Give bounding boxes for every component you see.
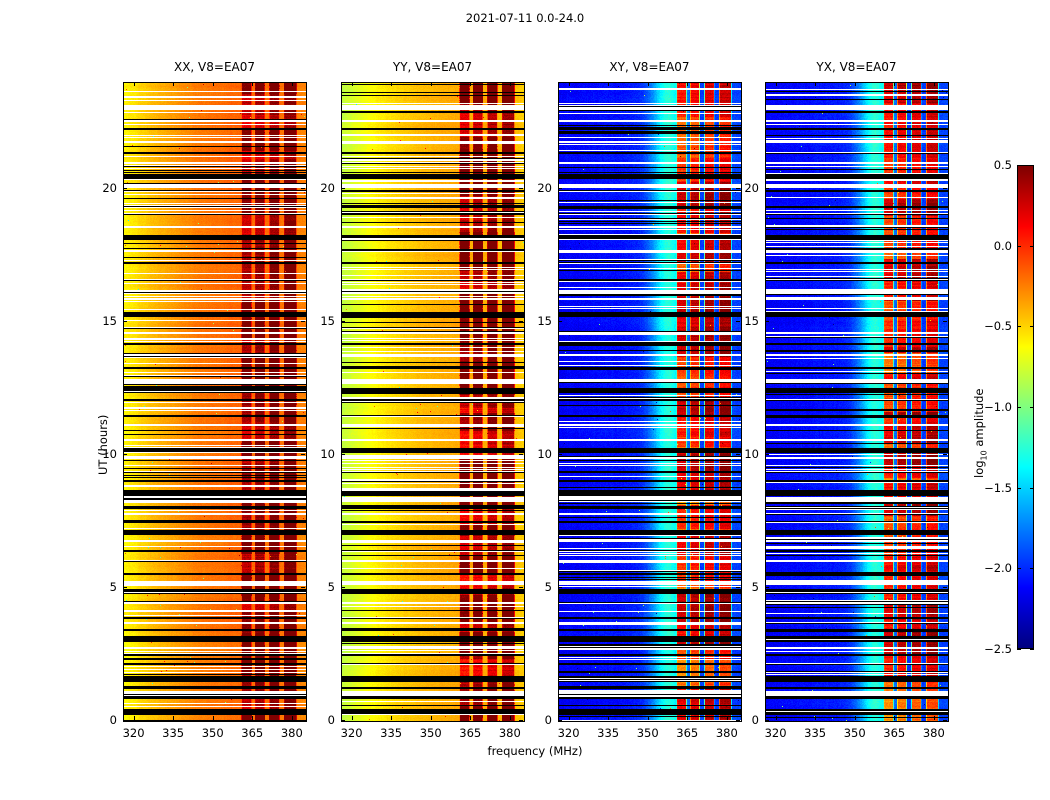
x-tick-top-320 — [352, 82, 353, 86]
y-tick-0 — [765, 720, 769, 721]
x-tick-top-380 — [727, 82, 728, 86]
colorbar-tick-left — [1017, 246, 1021, 247]
x-tick-top-365 — [252, 82, 253, 86]
y-tick-20 — [558, 188, 562, 189]
panel-title-xx: XX, V8=EA07 — [123, 60, 306, 74]
panel-title-yy: YY, V8=EA07 — [341, 60, 524, 74]
x-tick-top-335 — [815, 82, 816, 86]
heatmap-panel-xy[interactable] — [558, 82, 742, 722]
y-tick-label: 10 — [526, 447, 552, 461]
colorbar-tick-label: −1.5 — [978, 481, 1012, 495]
colorbar-tick-label: −2.0 — [978, 561, 1012, 575]
figure-suptitle: 2021-07-11 0.0-24.0 — [0, 11, 1050, 25]
y-tick-5 — [123, 587, 127, 588]
y-axis-label: UT (hours) — [96, 415, 110, 475]
x-axis-label: frequency (MHz) — [385, 744, 685, 758]
panel-title-xy: XY, V8=EA07 — [558, 60, 741, 74]
y-tick-label: 0 — [309, 713, 335, 727]
figure-canvas: 2021-07-11 0.0-24.0 XX, V8=EA07 YY, V8=E… — [0, 0, 1050, 800]
x-tick-top-335 — [608, 82, 609, 86]
y-tick-right-0 — [519, 720, 523, 721]
x-tick-350 — [855, 716, 856, 720]
y-tick-0 — [123, 720, 127, 721]
x-tick-label: 365 — [448, 726, 492, 740]
x-tick-label: 350 — [409, 726, 453, 740]
x-tick-380 — [727, 716, 728, 720]
y-tick-15 — [123, 321, 127, 322]
colorbar-tick-label: 0.5 — [978, 158, 1012, 172]
colorbar-tick-left — [1017, 649, 1021, 650]
y-tick-label: 10 — [733, 447, 759, 461]
colorbar-tick-label: −2.5 — [978, 642, 1012, 656]
y-tick-10 — [341, 454, 345, 455]
x-tick-label: 335 — [369, 726, 413, 740]
x-tick-label: 350 — [626, 726, 670, 740]
x-tick-label: 380 — [488, 726, 532, 740]
y-tick-label: 10 — [309, 447, 335, 461]
y-tick-label: 5 — [309, 580, 335, 594]
panel-title-yx: YX, V8=EA07 — [765, 60, 948, 74]
x-tick-label: 320 — [754, 726, 798, 740]
x-tick-label: 365 — [872, 726, 916, 740]
x-tick-380 — [510, 716, 511, 720]
x-tick-label: 320 — [330, 726, 374, 740]
x-tick-label: 365 — [230, 726, 274, 740]
x-tick-top-350 — [648, 82, 649, 86]
y-tick-right-20 — [301, 188, 305, 189]
y-tick-right-5 — [301, 587, 305, 588]
x-tick-335 — [391, 716, 392, 720]
y-tick-label: 20 — [309, 181, 335, 195]
colorbar-tick-left — [1017, 488, 1021, 489]
colorbar-tick-label: −0.5 — [978, 319, 1012, 333]
x-tick-top-320 — [569, 82, 570, 86]
heatmap-panel-yx[interactable] — [765, 82, 949, 722]
y-tick-20 — [123, 188, 127, 189]
y-tick-right-20 — [943, 188, 947, 189]
colorbar-tick-left — [1017, 326, 1021, 327]
x-tick-320 — [569, 716, 570, 720]
colorbar-tick — [1030, 246, 1034, 247]
heatmap-panel-xx[interactable] — [123, 82, 307, 722]
x-tick-335 — [173, 716, 174, 720]
x-tick-350 — [431, 716, 432, 720]
y-tick-10 — [765, 454, 769, 455]
x-tick-365 — [470, 716, 471, 720]
x-tick-top-335 — [173, 82, 174, 86]
x-tick-380 — [934, 716, 935, 720]
x-tick-320 — [134, 716, 135, 720]
colorbar-tick — [1030, 165, 1034, 166]
x-tick-label: 380 — [705, 726, 749, 740]
x-tick-label: 335 — [793, 726, 837, 740]
x-tick-350 — [648, 716, 649, 720]
colorbar-label-subscript: 10 — [979, 450, 988, 460]
y-tick-10 — [123, 454, 127, 455]
y-tick-label: 0 — [526, 713, 552, 727]
x-tick-top-380 — [510, 82, 511, 86]
y-tick-label: 5 — [733, 580, 759, 594]
x-tick-top-350 — [213, 82, 214, 86]
heatmap-panel-yy[interactable] — [341, 82, 525, 722]
y-tick-15 — [558, 321, 562, 322]
y-tick-label: 20 — [526, 181, 552, 195]
x-tick-320 — [776, 716, 777, 720]
x-tick-365 — [687, 716, 688, 720]
y-tick-15 — [765, 321, 769, 322]
x-tick-320 — [352, 716, 353, 720]
x-tick-top-380 — [934, 82, 935, 86]
x-tick-label: 335 — [586, 726, 630, 740]
x-tick-335 — [815, 716, 816, 720]
y-tick-10 — [558, 454, 562, 455]
y-tick-5 — [558, 587, 562, 588]
y-tick-label: 5 — [526, 580, 552, 594]
x-tick-380 — [292, 716, 293, 720]
y-tick-label: 20 — [91, 181, 117, 195]
y-tick-label: 20 — [733, 181, 759, 195]
y-tick-right-5 — [943, 587, 947, 588]
x-tick-top-335 — [391, 82, 392, 86]
x-tick-label: 380 — [912, 726, 956, 740]
x-tick-label: 335 — [151, 726, 195, 740]
x-tick-label: 320 — [547, 726, 591, 740]
colorbar-label: log10 amplitude — [972, 389, 988, 479]
x-tick-top-320 — [776, 82, 777, 86]
y-tick-label: 15 — [91, 314, 117, 328]
colorbar-tick — [1030, 407, 1034, 408]
y-tick-label: 15 — [526, 314, 552, 328]
y-tick-0 — [341, 720, 345, 721]
y-tick-15 — [341, 321, 345, 322]
y-tick-right-0 — [301, 720, 305, 721]
y-tick-5 — [341, 587, 345, 588]
x-tick-top-350 — [855, 82, 856, 86]
colorbar-tick-label: 0.0 — [978, 239, 1012, 253]
x-tick-top-365 — [894, 82, 895, 86]
colorbar-tick — [1030, 568, 1034, 569]
colorbar-tick-left — [1017, 165, 1021, 166]
x-tick-label: 350 — [833, 726, 877, 740]
y-tick-5 — [765, 587, 769, 588]
x-tick-label: 350 — [191, 726, 235, 740]
x-tick-350 — [213, 716, 214, 720]
x-tick-top-320 — [134, 82, 135, 86]
y-tick-label: 15 — [309, 314, 335, 328]
y-tick-20 — [341, 188, 345, 189]
colorbar-tick-left — [1017, 407, 1021, 408]
y-tick-right-0 — [943, 720, 947, 721]
y-tick-right-15 — [519, 321, 523, 322]
x-tick-label: 380 — [270, 726, 314, 740]
colorbar-tick-left — [1017, 568, 1021, 569]
x-tick-label: 320 — [112, 726, 156, 740]
y-tick-right-20 — [519, 188, 523, 189]
colorbar-tick — [1030, 326, 1034, 327]
y-tick-label: 15 — [733, 314, 759, 328]
y-tick-right-10 — [519, 454, 523, 455]
colorbar-label-main: log — [972, 460, 986, 478]
x-tick-top-350 — [431, 82, 432, 86]
y-tick-right-15 — [301, 321, 305, 322]
y-tick-right-15 — [943, 321, 947, 322]
x-tick-top-380 — [292, 82, 293, 86]
colorbar-label-tail: amplitude — [972, 389, 986, 451]
y-tick-0 — [558, 720, 562, 721]
x-tick-335 — [608, 716, 609, 720]
y-tick-20 — [765, 188, 769, 189]
y-tick-right-10 — [301, 454, 305, 455]
x-tick-365 — [894, 716, 895, 720]
x-tick-label: 365 — [665, 726, 709, 740]
y-tick-label: 0 — [733, 713, 759, 727]
x-tick-top-365 — [470, 82, 471, 86]
y-tick-label: 0 — [91, 713, 117, 727]
x-tick-365 — [252, 716, 253, 720]
y-tick-right-10 — [943, 454, 947, 455]
colorbar-tick — [1030, 649, 1034, 650]
y-tick-label: 5 — [91, 580, 117, 594]
y-tick-right-5 — [519, 587, 523, 588]
colorbar-tick — [1030, 488, 1034, 489]
x-tick-top-365 — [687, 82, 688, 86]
